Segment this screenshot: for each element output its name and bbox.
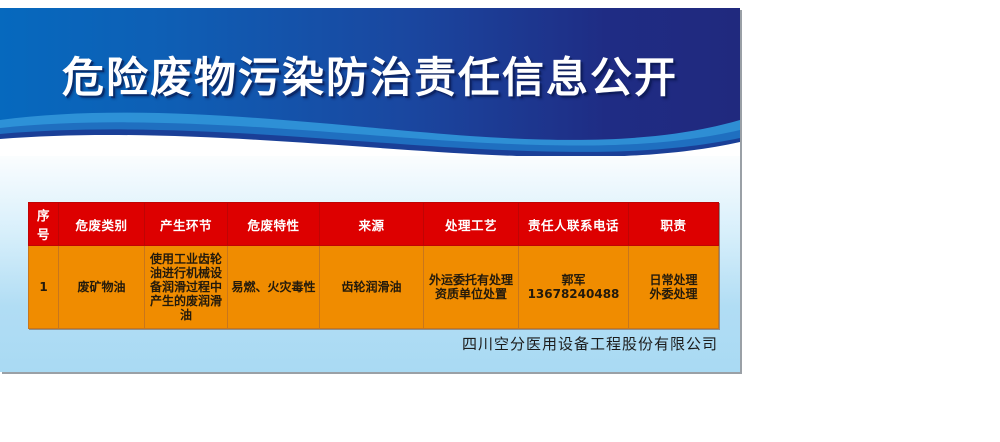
responsible-person-name: 郭军: [521, 273, 626, 287]
column-header-seq: 序号: [29, 203, 59, 246]
cell-hazard-property: 易燃、火灾毒性: [228, 246, 320, 329]
cell-responsible-contact: 郭军 13678240488: [519, 246, 629, 329]
page-title: 危险废物污染防治责任信息公开: [0, 52, 740, 104]
responsible-person-phone: 13678240488: [521, 287, 626, 301]
column-header-duty: 职责: [629, 203, 719, 246]
table-header-row: 序号 危废类别 产生环节 危废特性 来源 处理工艺 责任人联系电话 职责: [29, 203, 719, 246]
cell-category: 废矿物油: [59, 246, 145, 329]
poster-board: 危险废物污染防治责任信息公开 序号 危废类别 产生环节 危废特性 来源 处理工艺…: [0, 8, 740, 372]
hazardous-waste-table: 序号 危废类别 产生环节 危废特性 来源 处理工艺 责任人联系电话 职责 1 废…: [28, 202, 719, 329]
cell-source: 齿轮润滑油: [320, 246, 424, 329]
cell-seq: 1: [29, 246, 59, 329]
column-header-source: 来源: [320, 203, 424, 246]
poster-header-band: 危险废物污染防治责任信息公开: [0, 8, 740, 156]
screenshot-canvas: 危险废物污染防治责任信息公开 序号 危废类别 产生环节 危废特性 来源 处理工艺…: [0, 0, 1000, 442]
table-row: 1 废矿物油 使用工业齿轮油进行机械设备润滑过程中产生的废润滑油 易燃、火灾毒性…: [29, 246, 719, 329]
cell-treatment-process: 外运委托有处理资质单位处置: [424, 246, 519, 329]
cell-generation-stage: 使用工业齿轮油进行机械设备润滑过程中产生的废润滑油: [145, 246, 228, 329]
column-header-contact: 责任人联系电话: [519, 203, 629, 246]
column-header-category: 危废类别: [59, 203, 145, 246]
company-name: 四川空分医用设备工程股份有限公司: [0, 333, 718, 354]
cell-duty: 日常处理 外委处理: [629, 246, 719, 329]
column-header-process: 处理工艺: [424, 203, 519, 246]
column-header-stage: 产生环节: [145, 203, 228, 246]
column-header-property: 危废特性: [228, 203, 320, 246]
